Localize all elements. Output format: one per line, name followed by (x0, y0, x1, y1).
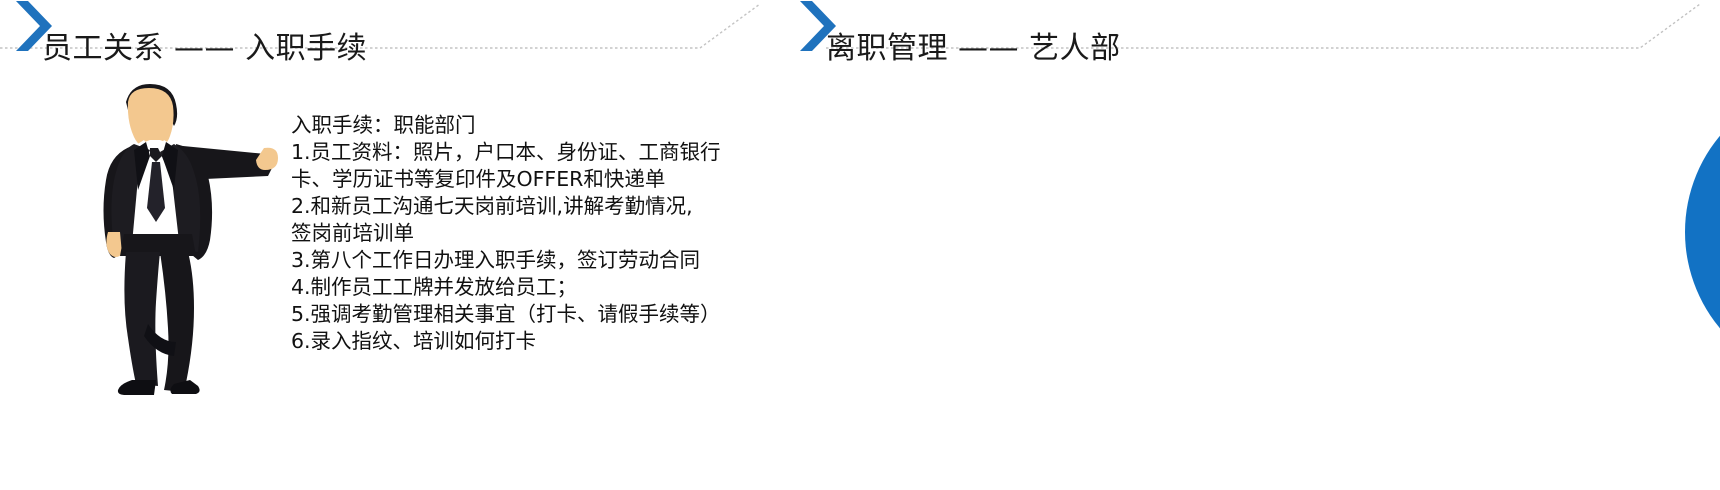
body-line: 入职手续：职能部门 (291, 112, 721, 139)
businessman-illustration (88, 84, 278, 396)
page-title-left: 员工关系 —— 入职手续 (42, 23, 367, 67)
slide-resignation: 离职管理 —— 艺人部 离职手续1 离职手续2 离职手续3 办理离职手续 1.员… (780, 0, 1720, 490)
onboarding-body-text: 入职手续：职能部门 1.员工资料：照片，户口本、身份证、工商银行 卡、学历证书等… (291, 112, 721, 355)
body-line: 4.制作员工工牌并发放给员工； (291, 274, 721, 301)
body-line: 6.录入指纹、培训如何打卡 (291, 328, 721, 355)
concentric-circles-diagram: 离职手续1 离职手续2 离职手续3 (1685, 82, 1720, 382)
body-line: 签岗前培训单 (291, 220, 721, 247)
ring-outer (1685, 82, 1720, 382)
page-title-right: 离职管理 —— 艺人部 (826, 23, 1121, 67)
body-line: 2.和新员工沟通七天岗前培训,讲解考勤情况, (291, 193, 721, 220)
body-line: 5.强调考勤管理相关事宜（打卡、请假手续等） (291, 301, 721, 328)
slide-deck: 员工关系 —— 入职手续 (0, 0, 1720, 490)
slide-onboarding: 员工关系 —— 入职手续 (0, 0, 780, 490)
slide-header-left: 员工关系 —— 入职手续 (0, 0, 780, 62)
slide-header-right: 离职管理 —— 艺人部 (780, 0, 1720, 62)
body-line: 卡、学历证书等复印件及OFFER和快递单 (291, 166, 721, 193)
body-line: 1.员工资料：照片，户口本、身份证、工商银行 (291, 139, 721, 166)
body-line: 3.第八个工作日办理入职手续，签订劳动合同 (291, 247, 721, 274)
